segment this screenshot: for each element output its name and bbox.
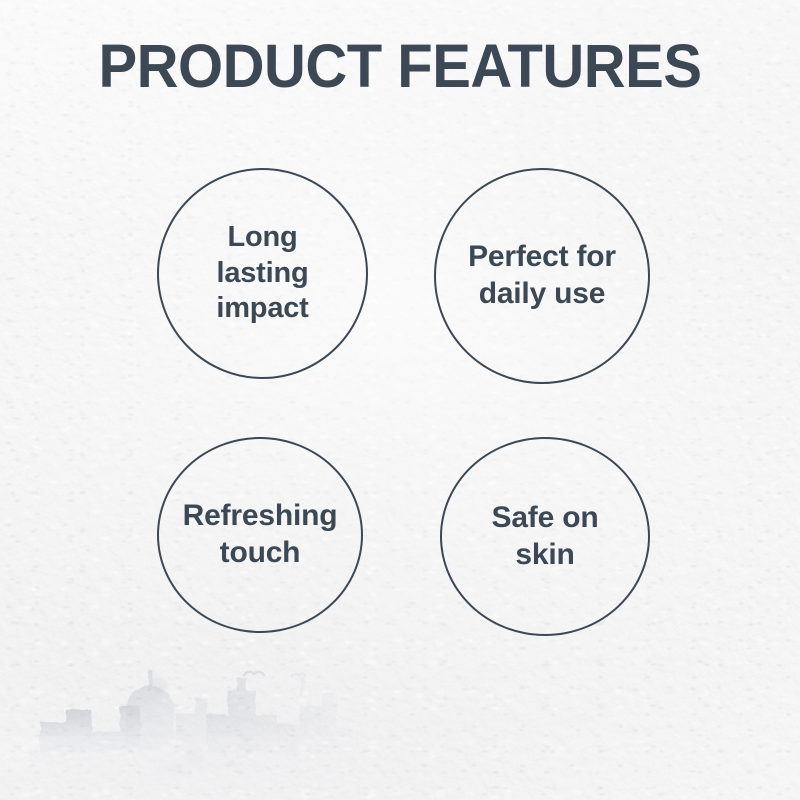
feature-circle-long-lasting-impact[interactable]: Long lasting impact — [157, 168, 368, 379]
feature-line-1-strong: Safe — [492, 501, 555, 534]
feature-line-2: daily use — [479, 277, 606, 310]
feature-line-2: lasting — [216, 257, 308, 289]
feature-label: Long lasting impact — [200, 220, 324, 326]
feature-label: Safe on skin — [476, 500, 615, 573]
feature-line-3: impact — [216, 292, 308, 324]
feature-circle-safe-on-skin[interactable]: Safe on skin — [440, 437, 650, 636]
feature-label: Refreshing touch — [167, 498, 354, 571]
page-title: PRODUCT FEATURES — [20, 36, 780, 97]
feature-line-1-light: on — [554, 501, 598, 534]
feature-line-1: Refreshing — [183, 499, 338, 532]
feature-circle-perfect-for-daily-use[interactable]: Perfect for daily use — [434, 168, 650, 384]
feature-line-2: touch — [220, 536, 301, 569]
poster-canvas: PRODUCT FEATURES Long lasting impact Per… — [0, 0, 800, 800]
feature-line-1: Perfect for — [468, 240, 616, 273]
paper-grain-overlay — [0, 0, 800, 800]
feature-line-2: skin — [515, 538, 574, 571]
feature-label: Perfect for daily use — [452, 239, 632, 312]
feature-line-1: Long — [227, 221, 297, 253]
feature-circle-refreshing-touch[interactable]: Refreshing touch — [157, 437, 363, 633]
